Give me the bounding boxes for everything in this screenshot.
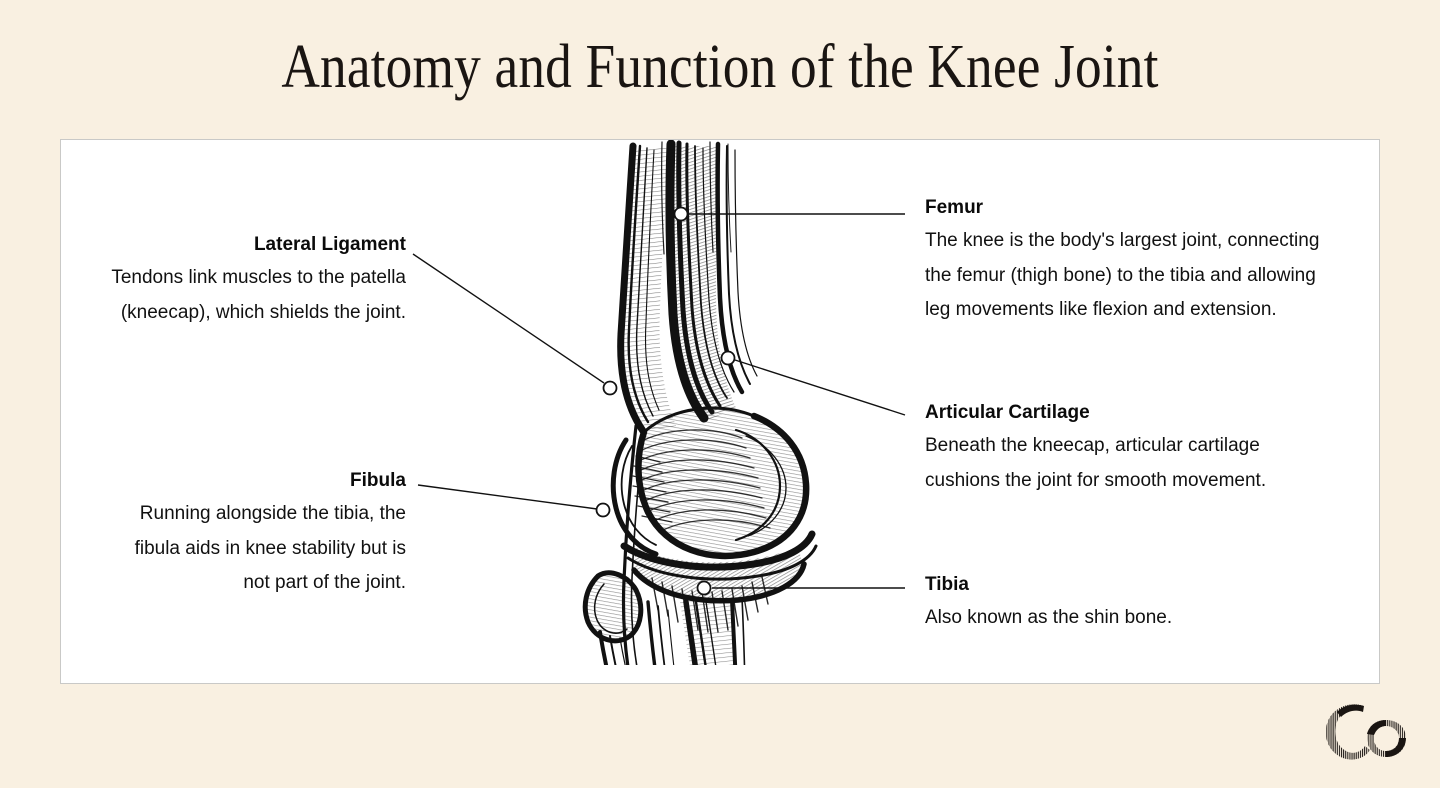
page-title: Anatomy and Function of the Knee Joint (101, 30, 1339, 104)
callout-tibia: Tibia Also known as the shin bone. (925, 572, 1325, 636)
callout-fibula: Fibula Running alongside the tibia, the … (106, 468, 406, 601)
callout-body-tibia: Also known as the shin bone. (925, 601, 1325, 636)
callout-articular-cartilage: Articular Cartilage Beneath the kneecap,… (925, 400, 1325, 498)
callout-body-femur: The knee is the body's largest joint, co… (925, 224, 1325, 328)
callout-title-articular-cartilage: Articular Cartilage (925, 400, 1325, 426)
callout-body-articular-cartilage: Beneath the kneecap, articular cartilage… (925, 429, 1325, 498)
co-monogram-logo (1320, 700, 1412, 762)
callout-title-fibula: Fibula (106, 468, 406, 494)
callout-body-lateral-ligament: Tendons link muscles to the patella (kne… (106, 261, 406, 330)
callout-body-fibula: Running alongside the tibia, the fibula … (106, 497, 406, 601)
callout-femur: Femur The knee is the body's largest joi… (925, 195, 1325, 328)
callout-lateral-ligament: Lateral Ligament Tendons link muscles to… (106, 232, 406, 330)
callout-title-tibia: Tibia (925, 572, 1325, 598)
callout-title-lateral-ligament: Lateral Ligament (106, 232, 406, 258)
callout-title-femur: Femur (925, 195, 1325, 221)
